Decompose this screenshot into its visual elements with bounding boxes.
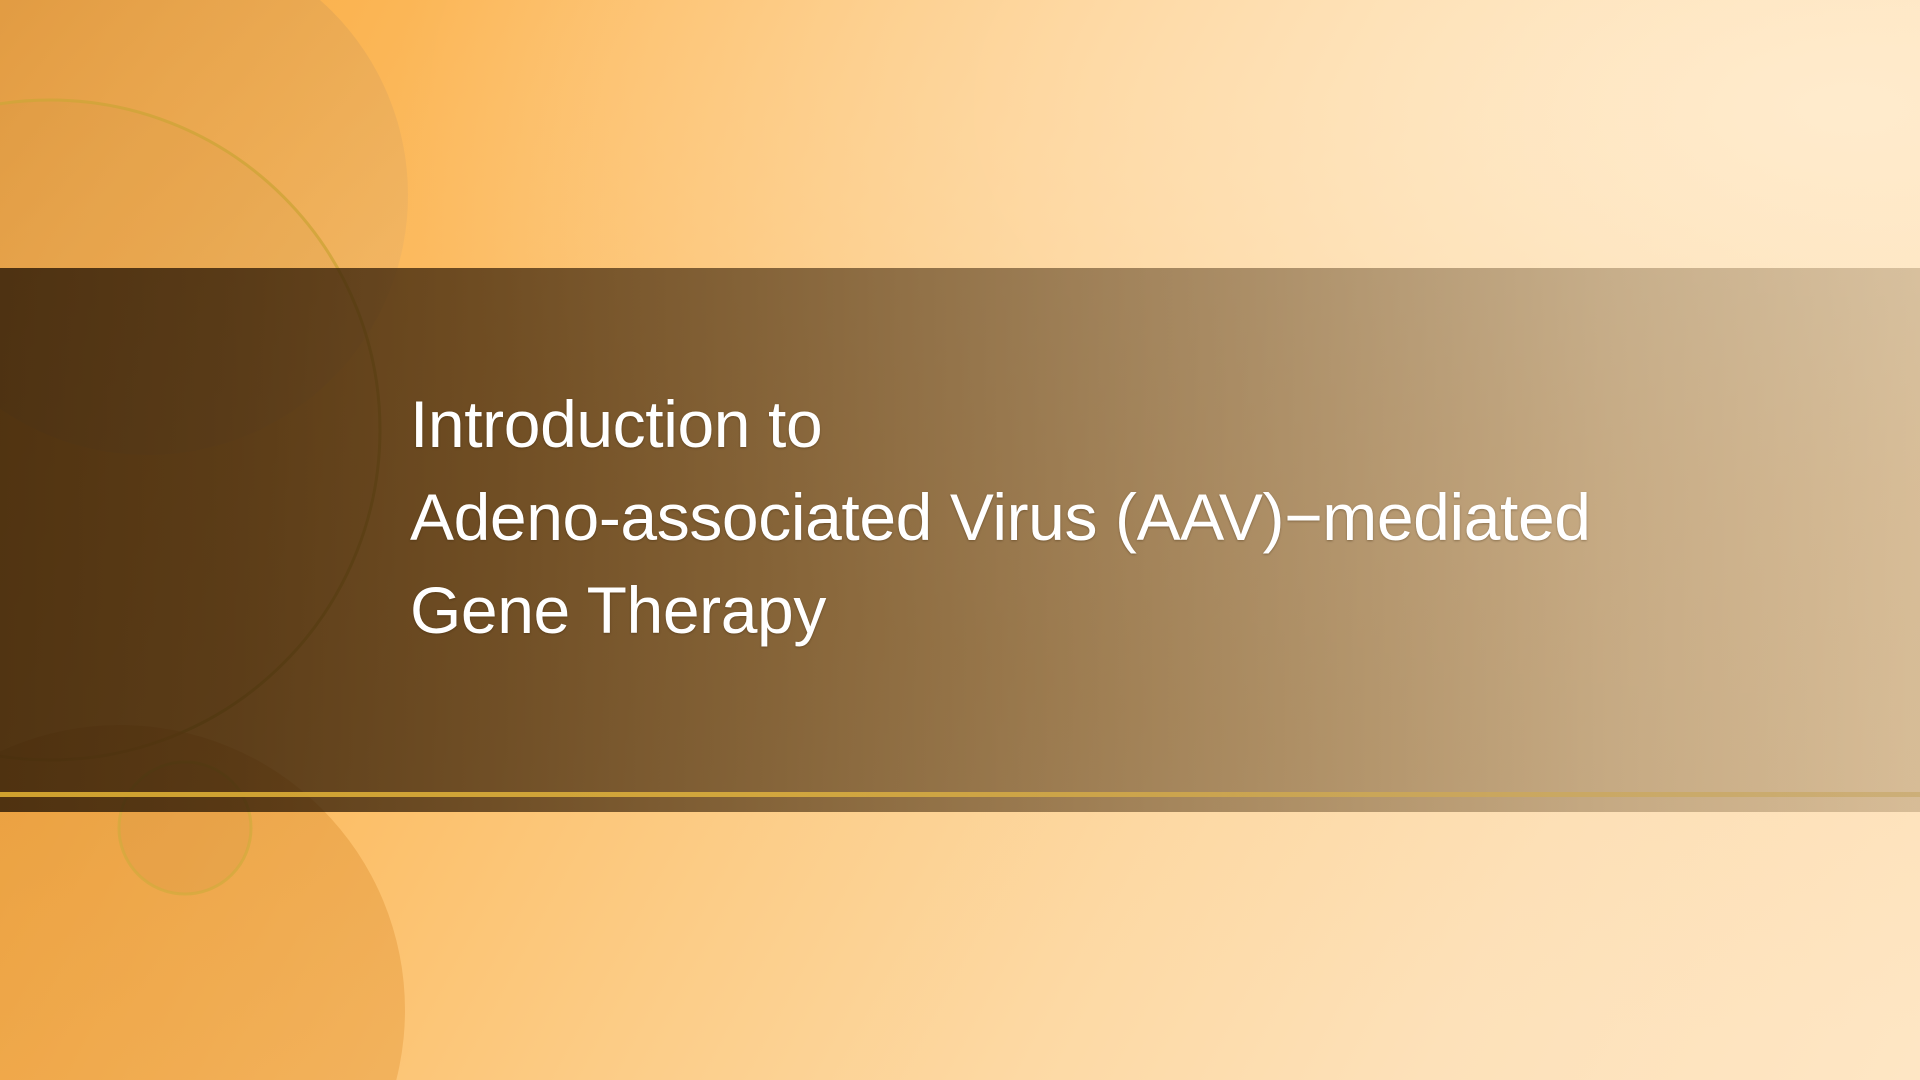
title-line-3: Gene Therapy [410,564,1880,657]
page-title: Introduction to Adeno-associated Virus (… [410,378,1880,657]
title-line-2: Adeno-associated Virus (AAV)−mediated [410,471,1880,564]
accent-rule [0,792,1920,797]
title-slide: Introduction to Adeno-associated Virus (… [0,0,1920,1080]
title-line-1: Introduction to [410,378,1880,471]
